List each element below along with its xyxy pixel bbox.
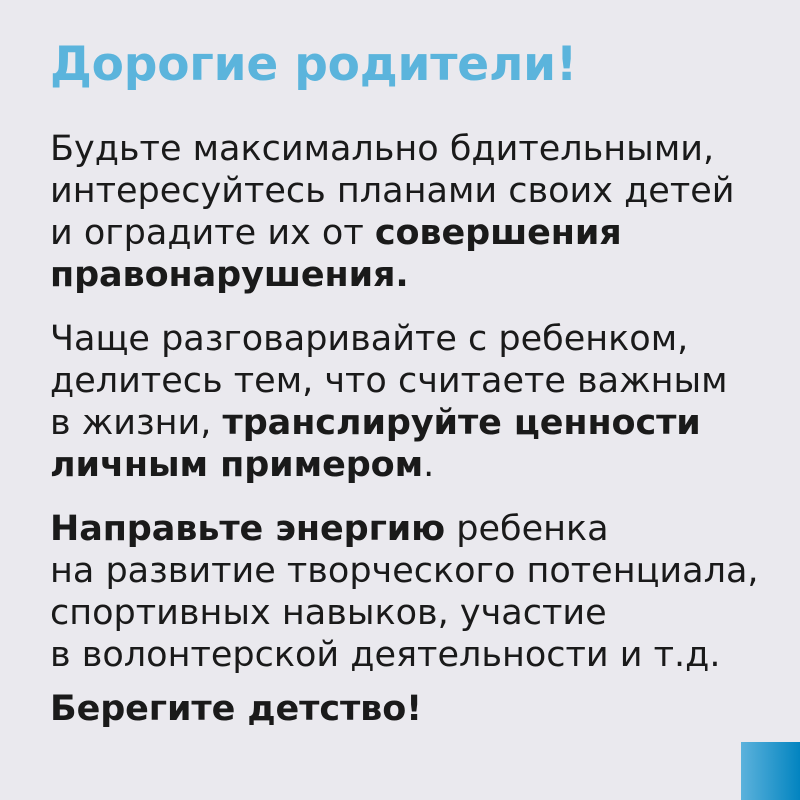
paragraph-vigilance: Будьте максимально бдительными,интересуй… [50, 128, 750, 296]
plain-text: делитесь тем, что считаете важным [50, 361, 728, 401]
text-line: в волонтерской деятельности и т.д. [50, 634, 750, 676]
text-line: в жизни, транслируйте ценности [50, 402, 750, 444]
text-line: Будьте максимально бдительными, [50, 128, 750, 170]
paragraph-talk-more: Чаще разговаривайте с ребенком,делитесь … [50, 318, 750, 486]
emphasis-text: транслируйте ценности [223, 403, 701, 443]
plain-text: в жизни, [50, 403, 223, 443]
text-line: правонарушения. [50, 254, 750, 296]
emphasis-text: совершения [375, 213, 622, 253]
emphasis-text: Берегите детство! [50, 689, 422, 729]
corner-accent-block [741, 742, 800, 800]
plain-text: . [423, 445, 434, 485]
text-line: и оградите их от совершения [50, 212, 750, 254]
plain-text: ребенка [445, 509, 608, 549]
text-line: делитесь тем, что считаете важным [50, 360, 750, 402]
plain-text: в волонтерской деятельности и т.д. [50, 635, 721, 675]
text-line: Чаще разговаривайте с ребенком, [50, 318, 750, 360]
plain-text: Будьте максимально бдительными, [50, 129, 714, 169]
text-line: интересуйтесь планами своих детей [50, 170, 750, 212]
text-line: Берегите детство! [50, 688, 750, 730]
paragraph-channel-energy: Направьте энергию ребенкана развитие тво… [50, 508, 750, 676]
emphasis-text: Направьте энергию [50, 509, 445, 549]
page-title: Дорогие родители! [50, 40, 577, 90]
plain-text: Чаще разговаривайте с ребенком, [50, 319, 688, 359]
emphasis-text: правонарушения. [50, 255, 409, 295]
plain-text: спортивных навыков, участие [50, 593, 607, 633]
plain-text: интересуйтесь планами своих детей [50, 171, 735, 211]
text-line: на развитие творческого потенциала, [50, 550, 750, 592]
paragraph-closing-call: Берегите детство! [50, 688, 750, 730]
plain-text: на развитие творческого потенциала, [50, 551, 759, 591]
body-copy: Будьте максимально бдительными,интересуй… [50, 128, 750, 730]
poster-canvas: Дорогие родители! Будьте максимально бди… [0, 0, 800, 800]
plain-text: и оградите их от [50, 213, 375, 253]
text-line: личным примером. [50, 444, 750, 486]
text-line: Направьте энергию ребенка [50, 508, 750, 550]
emphasis-text: личным примером [50, 445, 423, 485]
text-line: спортивных навыков, участие [50, 592, 750, 634]
